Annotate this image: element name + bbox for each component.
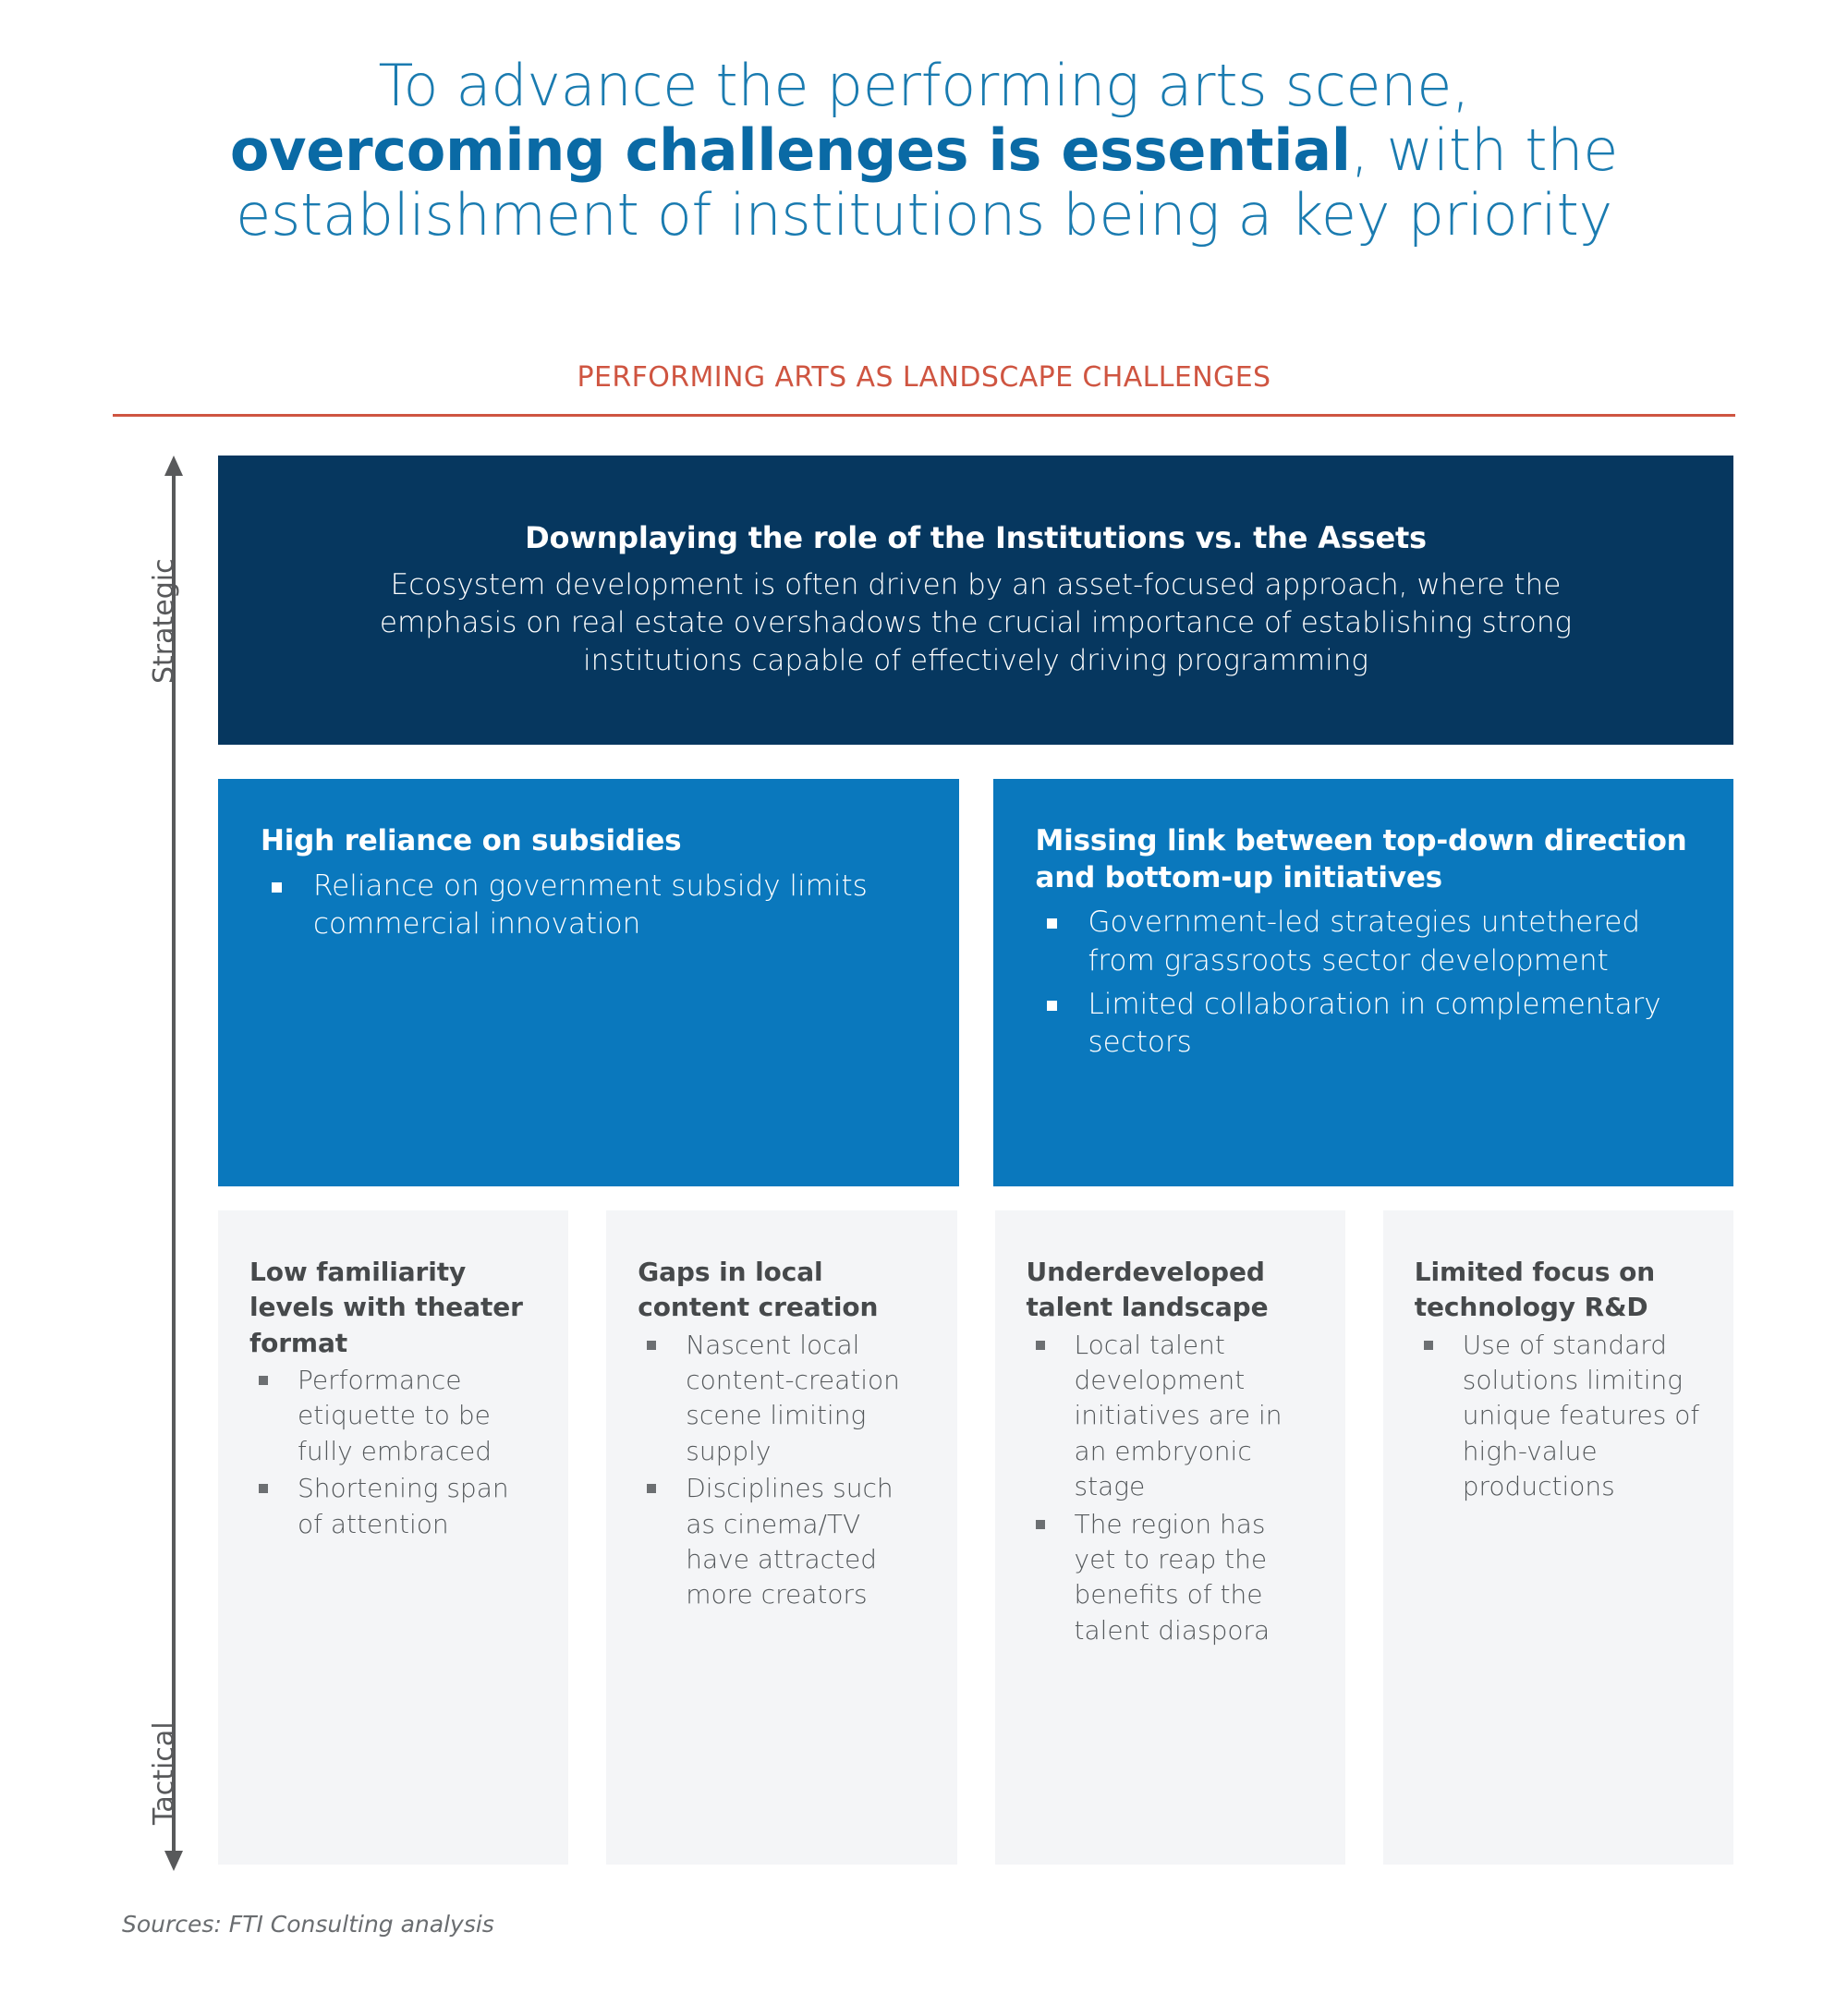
- challenge-card-institutions[interactable]: Downplaying the role of the Institutions…: [218, 456, 1733, 745]
- list-item-label: Nascent local content-creation scene lim…: [686, 1330, 900, 1466]
- square-bullet-icon: [1424, 1341, 1433, 1350]
- square-bullet-icon: [1047, 1001, 1057, 1011]
- page-title-line-2-tail: , with the: [1351, 116, 1618, 184]
- list-item: Nascent local content-creation scene lim…: [638, 1328, 925, 1469]
- sources-note: Sources: FTI Consulting analysis: [122, 1911, 494, 1938]
- mid-tier-challenges: High reliance on subsidies Reliance on g…: [218, 779, 1733, 1186]
- page-title: To advance the performing arts scene, ov…: [139, 54, 1709, 248]
- challenge-card-subsidies[interactable]: High reliance on subsidies Reliance on g…: [218, 779, 959, 1186]
- square-bullet-icon: [647, 1484, 656, 1493]
- challenge-card-title: Missing link between top-down direction …: [1036, 823, 1692, 896]
- axis-label-tactical: Tactical: [148, 1721, 180, 1825]
- challenge-card-title: Limited focus on technology R&D: [1415, 1255, 1702, 1326]
- list-item-label: Performance etiquette to be fully embrac…: [298, 1365, 492, 1466]
- challenge-card-title: Gaps in local content creation: [638, 1255, 925, 1326]
- axis-label-strategic: Strategic: [148, 558, 180, 684]
- challenge-card-body: Ecosystem development is often driven by…: [366, 566, 1586, 680]
- page-title-emphasis: overcoming challenges is essential: [230, 116, 1351, 184]
- challenge-bullet-list: Use of standard solutions limiting uniqu…: [1415, 1328, 1702, 1505]
- list-item-label: Local talent development initiatives are…: [1075, 1330, 1283, 1501]
- challenge-bullet-list: Government-led strategies untethered fro…: [1036, 904, 1692, 1062]
- list-item: Use of standard solutions limiting uniqu…: [1415, 1328, 1702, 1505]
- challenge-card-content-creation[interactable]: Gaps in local content creation Nascent l…: [606, 1210, 956, 1865]
- list-item: Shortening span of attention: [249, 1471, 537, 1542]
- challenge-card-theater-familiarity[interactable]: Low familiarity levels with theater form…: [218, 1210, 568, 1865]
- tactical-challenges: Low familiarity levels with theater form…: [218, 1210, 1733, 1865]
- square-bullet-icon: [1036, 1520, 1045, 1529]
- square-bullet-icon: [259, 1376, 268, 1385]
- list-item-label: Government-led strategies untethered fro…: [1088, 905, 1641, 977]
- list-item-label: Use of standard solutions limiting uniqu…: [1463, 1330, 1699, 1501]
- list-item: Government-led strategies untethered fro…: [1036, 904, 1692, 979]
- challenge-card-talent-landscape[interactable]: Underdeveloped talent landscape Local ta…: [995, 1210, 1345, 1865]
- challenge-card-title: Low familiarity levels with theater form…: [249, 1255, 537, 1361]
- page-title-line-3: establishment of institutions being a ke…: [236, 181, 1612, 249]
- section-label: PERFORMING ARTS AS LANDSCAPE CHALLENGES: [139, 361, 1709, 394]
- list-item: Performance etiquette to be fully embrac…: [249, 1363, 537, 1469]
- list-item: Local talent development initiatives are…: [1027, 1328, 1314, 1505]
- section-divider: [113, 414, 1735, 417]
- challenge-card-technology-rd[interactable]: Limited focus on technology R&D Use of s…: [1383, 1210, 1733, 1865]
- challenge-card-title: Downplaying the role of the Institutions…: [525, 520, 1427, 555]
- challenge-bullet-list: Nascent local content-creation scene lim…: [638, 1328, 925, 1613]
- challenge-bullet-list: Local talent development initiatives are…: [1027, 1328, 1314, 1648]
- list-item-label: Disciplines such as cinema/TV have attra…: [686, 1473, 893, 1610]
- list-item: Disciplines such as cinema/TV have attra…: [638, 1471, 925, 1612]
- list-item-label: Reliance on government subsidy limits co…: [313, 869, 868, 941]
- square-bullet-icon: [272, 882, 282, 893]
- list-item: Reliance on government subsidy limits co…: [261, 868, 917, 943]
- list-item: The region has yet to reap the benefits …: [1027, 1507, 1314, 1648]
- page-title-line-1: To advance the performing arts scene,: [378, 52, 1469, 119]
- list-item-label: Limited collaboration in complementary s…: [1088, 988, 1661, 1059]
- square-bullet-icon: [1036, 1341, 1045, 1350]
- challenge-card-title: High reliance on subsidies: [261, 823, 917, 860]
- square-bullet-icon: [647, 1341, 656, 1350]
- challenge-bullet-list: Performance etiquette to be fully embrac…: [249, 1363, 537, 1542]
- square-bullet-icon: [259, 1484, 268, 1493]
- square-bullet-icon: [1047, 918, 1057, 929]
- list-item-label: Shortening span of attention: [298, 1473, 509, 1538]
- challenge-bullet-list: Reliance on government subsidy limits co…: [261, 868, 917, 943]
- challenge-card-missing-link[interactable]: Missing link between top-down direction …: [993, 779, 1734, 1186]
- list-item: Limited collaboration in complementary s…: [1036, 986, 1692, 1062]
- list-item-label: The region has yet to reap the benefits …: [1075, 1509, 1270, 1646]
- challenge-card-title: Underdeveloped talent landscape: [1027, 1255, 1314, 1326]
